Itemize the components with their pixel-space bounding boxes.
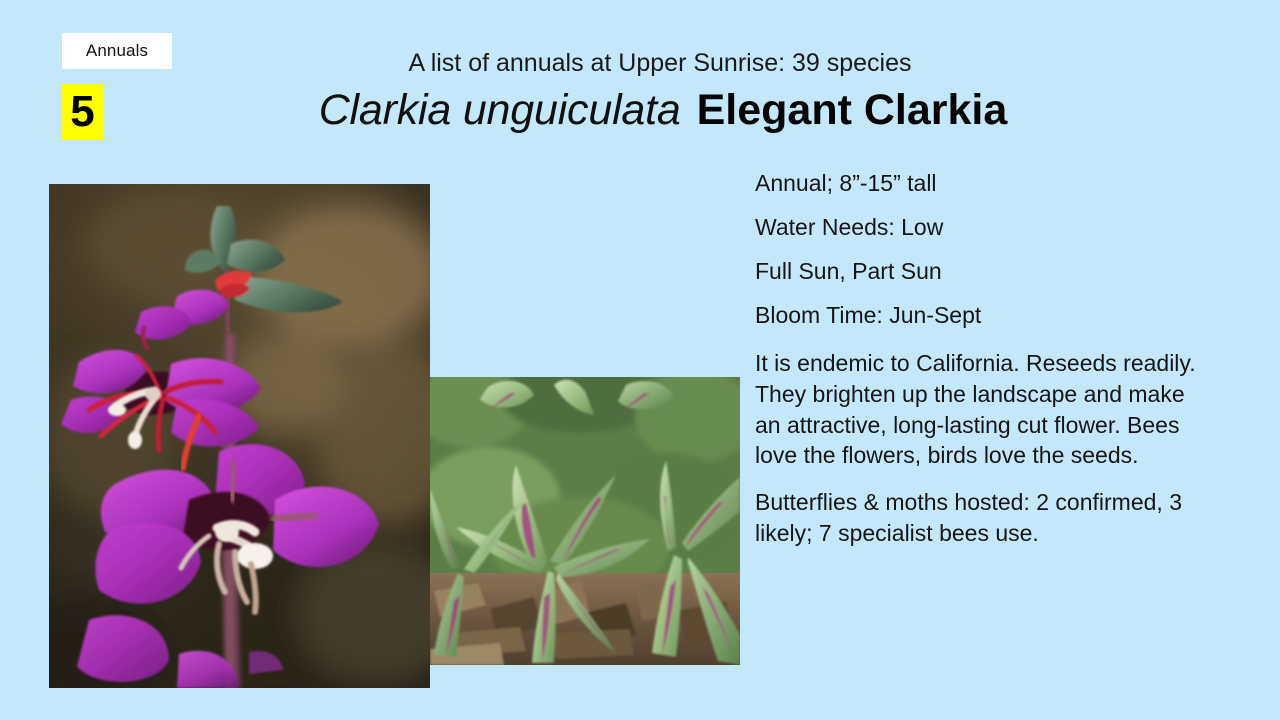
species-latin-name: Clarkia unguiculata — [319, 86, 681, 134]
slide-title: Clarkia unguiculataElegant Clarkia — [0, 86, 1280, 135]
clarkia-flower-photo — [49, 184, 430, 688]
fact-sun-exposure: Full Sun, Part Sun — [755, 260, 1205, 283]
fact-bloom-time: Bloom Time: Jun-Sept — [755, 304, 1205, 327]
pollinator-paragraph: Butterflies & moths hosted: 2 confirmed,… — [755, 487, 1205, 549]
fact-water-needs: Water Needs: Low — [755, 216, 1205, 239]
clarkia-foliage-photo — [430, 377, 740, 665]
slide-subtitle: A list of annuals at Upper Sunrise: 39 s… — [0, 49, 1280, 78]
clarkia-flower-illustration — [49, 184, 430, 688]
species-common-name: Elegant Clarkia — [697, 86, 1008, 134]
description-paragraph: It is endemic to California. Reseeds rea… — [755, 348, 1205, 471]
plant-info-column: Annual; 8”-15” tall Water Needs: Low Ful… — [755, 172, 1205, 549]
fact-size: Annual; 8”-15” tall — [755, 172, 1205, 195]
clarkia-foliage-illustration — [430, 377, 740, 665]
